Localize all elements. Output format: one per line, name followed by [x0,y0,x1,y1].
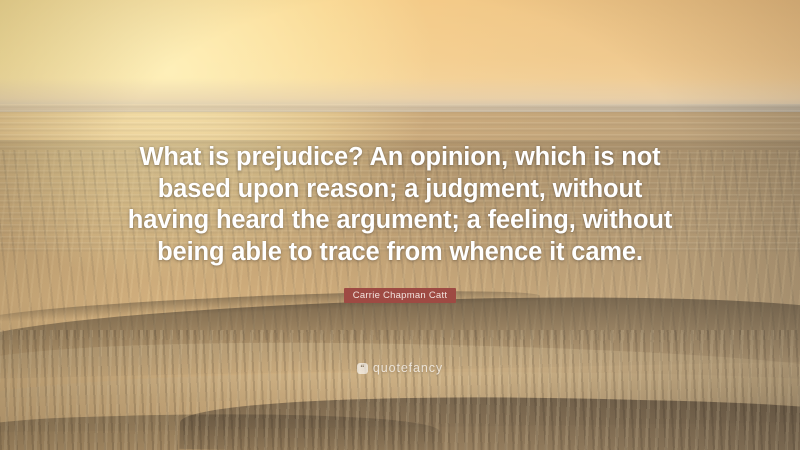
quote-mark-icon: “ [357,363,368,374]
quote-poster: What is prejudice? An opinion, which is … [0,0,800,450]
author-name-badge: Carrie Chapman Catt [344,288,457,303]
quote-text: What is prejudice? An opinion, which is … [60,142,740,268]
wave-foam-texture [0,330,800,450]
watermark-brand-label: quotefancy [373,361,443,375]
watermark: “ quotefancy [0,361,800,375]
author-badge-container: Carrie Chapman Catt [0,285,800,303]
